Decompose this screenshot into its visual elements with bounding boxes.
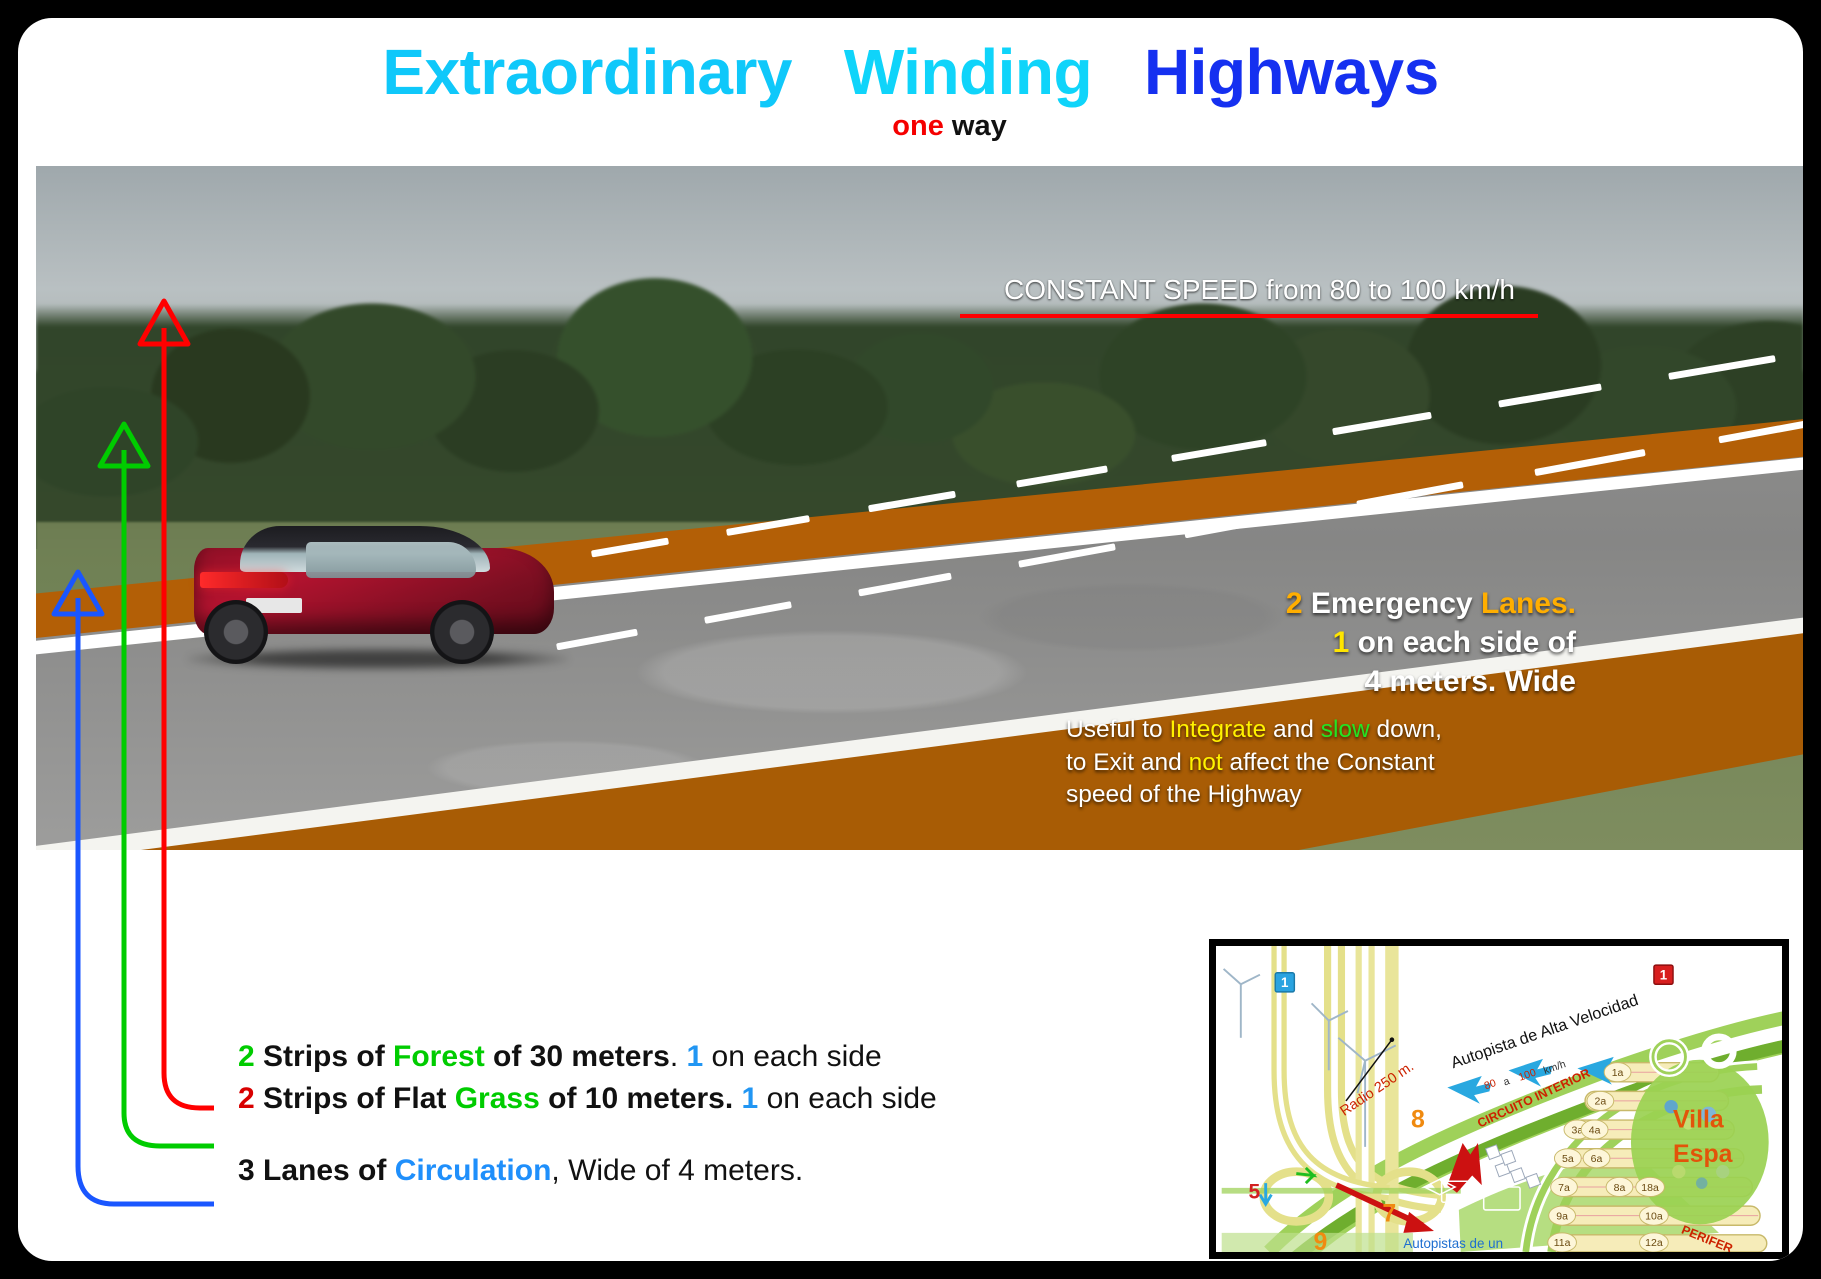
emergency-line2-text: on each side of	[1349, 626, 1576, 659]
map-block-10a: 10a	[1640, 1206, 1669, 1225]
interchange-map-inset: Autopista de Alta Velocidad 80 a 100 km/…	[1209, 939, 1789, 1259]
legend-lanes-keyword: Circulation	[395, 1154, 552, 1187]
legend-forest-t1: Strips of	[255, 1040, 393, 1073]
svg-text:5a: 5a	[1562, 1153, 1574, 1165]
car-wheel-rear	[204, 600, 268, 664]
subtitle: one way	[18, 112, 1803, 141]
red-car	[194, 526, 574, 666]
legend-forest-count: 2	[238, 1040, 255, 1073]
emergency-line-1: 2 Emergency Lanes.	[1056, 584, 1576, 623]
legend-grass: 2 Strips of Flat Grass of 10 meters. 1 o…	[238, 1082, 1238, 1116]
map-block-2a: 2a	[1587, 1091, 1614, 1110]
title-part-1: Extraordinary	[382, 36, 792, 108]
useful-l1-c: down,	[1370, 716, 1442, 743]
useful-line-1: Useful to Integrate and slow down,	[1066, 714, 1586, 747]
useful-l1-b: and	[1266, 716, 1321, 743]
legend-lanes-t2: , Wide of 4 meters.	[551, 1154, 803, 1187]
useful-l1-a: Useful to	[1066, 716, 1170, 743]
map-block-18a: 18a	[1636, 1177, 1665, 1196]
svg-text:12a: 12a	[1645, 1237, 1663, 1249]
map-block-9a: 9a	[1549, 1206, 1576, 1225]
legend-forest-t4: on each side	[703, 1040, 881, 1073]
emergency-line-3: 4 meters. Wide	[1056, 662, 1576, 701]
useful-line-3: speed of the Highway	[1066, 779, 1586, 812]
map-badge-left: 1	[1275, 973, 1294, 992]
emergency-count: 2	[1286, 587, 1303, 620]
map-block-4a: 4a	[1581, 1120, 1608, 1139]
svg-text:18a: 18a	[1641, 1182, 1659, 1194]
emergency-lanes-word: Lanes.	[1481, 587, 1576, 620]
map-block-12a: 12a	[1640, 1233, 1669, 1252]
map-block-7a: 7a	[1551, 1177, 1578, 1196]
constant-speed-underline	[960, 314, 1538, 318]
map-block-1a: 1a	[1604, 1063, 1631, 1082]
legend-grass-t3	[733, 1082, 741, 1115]
svg-text:1: 1	[1660, 967, 1668, 982]
legend-grass-t4: on each side	[758, 1082, 936, 1115]
emergency-line1-text: Emergency	[1303, 587, 1481, 620]
legend-forest: 2 Strips of Forest of 30 meters. 1 on ea…	[238, 1040, 1238, 1074]
legend-lanes-count: 3	[238, 1154, 255, 1187]
legend-forest-keyword: Forest	[393, 1040, 485, 1073]
svg-text:7a: 7a	[1558, 1182, 1570, 1194]
map-block-11a: 11a	[1548, 1233, 1577, 1252]
car-window	[306, 542, 476, 578]
subtitle-one: one	[892, 110, 944, 142]
svg-text:1: 1	[1281, 975, 1289, 990]
map-badge-right: 1	[1654, 965, 1673, 984]
title-part-2: Winding	[844, 36, 1092, 108]
svg-text:1a: 1a	[1612, 1067, 1624, 1079]
svg-text:2a: 2a	[1595, 1096, 1607, 1108]
car-wheel-front	[430, 600, 494, 664]
svg-text:8a: 8a	[1614, 1182, 1626, 1194]
svg-text:11a: 11a	[1554, 1237, 1571, 1249]
legend-forest-t3: .	[670, 1040, 687, 1073]
emergency-lanes-note: 2 Emergency Lanes. 1 on each side of 4 m…	[1056, 584, 1576, 701]
svg-text:4a: 4a	[1589, 1124, 1601, 1136]
legend-grass-keyword: Grass	[455, 1082, 540, 1115]
map-bottom-road-label: Autopistas de un	[1403, 1236, 1503, 1251]
legend-grass-count: 2	[238, 1082, 255, 1115]
map-villa-label: Villa	[1673, 1106, 1724, 1134]
useful-note: Useful to Integrate and slow down, to Ex…	[1066, 714, 1586, 812]
emergency-per-side-count: 1	[1333, 626, 1350, 659]
highway-photo: CONSTANT SPEED from 80 to 100 km/h 2 Eme…	[36, 166, 1803, 850]
title-part-3: Highways	[1144, 36, 1439, 108]
outer-frame: Extraordinary Winding Highways one way	[0, 0, 1821, 1279]
poster-card: Extraordinary Winding Highways one way	[18, 18, 1803, 1261]
svg-text:10a: 10a	[1645, 1210, 1663, 1222]
subtitle-way: way	[952, 110, 1007, 142]
map-num-5: 5	[1248, 1180, 1260, 1203]
legend-grass-count2: 1	[742, 1082, 759, 1115]
useful-line-2: to Exit and not affect the Constant	[1066, 747, 1586, 780]
legend-forest-count2: 1	[686, 1040, 703, 1073]
legend-lanes: 3 Lanes of Circulation, Wide of 4 meters…	[238, 1154, 1238, 1188]
map-num-7: 7	[1382, 1199, 1396, 1227]
car-taillight	[200, 572, 288, 588]
legend-grass-t1: Strips of Flat	[255, 1082, 455, 1115]
emergency-line-2: 1 on each side of	[1056, 623, 1576, 662]
page-title: Extraordinary Winding Highways	[18, 40, 1803, 104]
map-espa-label: Espa	[1673, 1140, 1733, 1168]
legend-grass-t2: of 10 meters.	[540, 1082, 733, 1115]
useful-slow: slow	[1321, 716, 1370, 743]
svg-text:9a: 9a	[1556, 1210, 1568, 1222]
useful-not: not	[1189, 749, 1223, 776]
useful-l2-b: affect the Constant	[1223, 749, 1435, 776]
map-block-6a: 6a	[1583, 1149, 1610, 1168]
map-block-5a: 5a	[1554, 1149, 1581, 1168]
legend-forest-t2: of 30 meters	[485, 1040, 670, 1073]
map-svg: Autopista de Alta Velocidad 80 a 100 km/…	[1216, 946, 1782, 1252]
map-block-8a: 8a	[1606, 1177, 1633, 1196]
legend-lanes-t1: Lanes of	[255, 1154, 395, 1187]
title-block: Extraordinary Winding Highways one way	[18, 40, 1803, 141]
map-num-9: 9	[1313, 1228, 1327, 1252]
map-num-8: 8	[1411, 1106, 1425, 1134]
constant-speed-label: CONSTANT SPEED from 80 to 100 km/h	[1004, 274, 1515, 306]
legend-list: 2 Strips of Forest of 30 meters. 1 on ea…	[238, 1040, 1238, 1196]
svg-text:6a: 6a	[1591, 1153, 1603, 1165]
useful-l2-a: to Exit and	[1066, 749, 1189, 776]
useful-integrate: Integrate	[1170, 716, 1267, 743]
